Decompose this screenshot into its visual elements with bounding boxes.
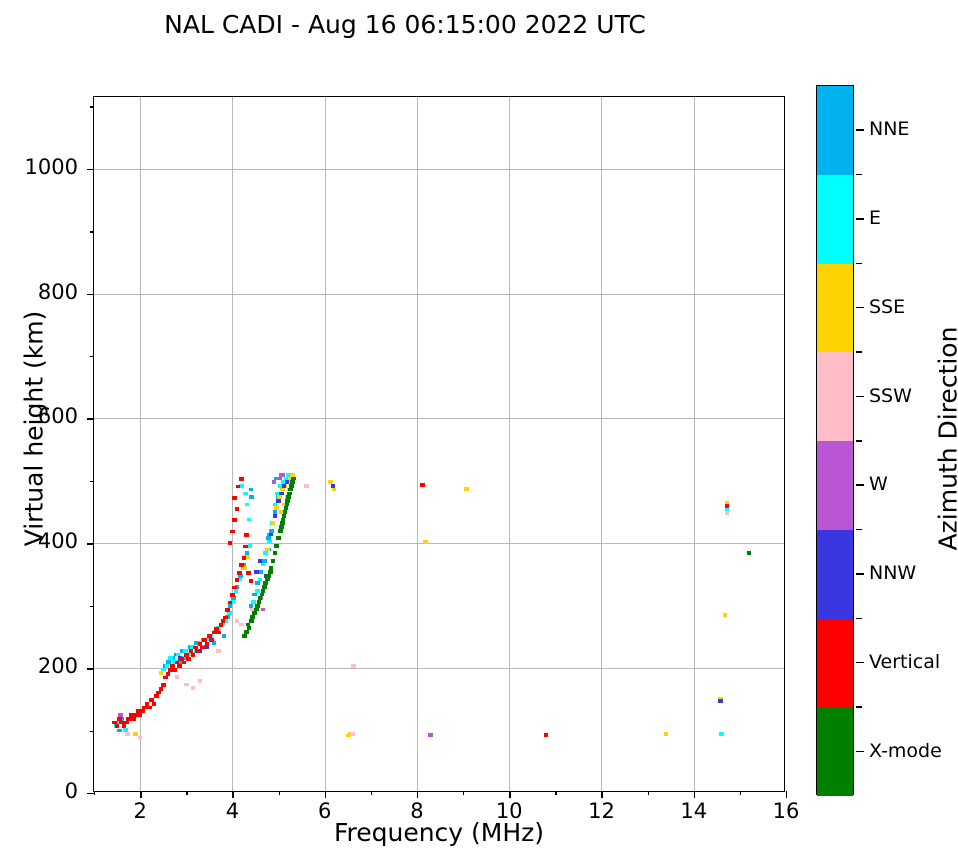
data-point-vertical: [147, 706, 152, 710]
x-axis-tick: [417, 791, 418, 798]
colorbar-boundary-tick: [856, 351, 862, 353]
data-point-x-mode: [254, 608, 259, 612]
y-axis-tick: [87, 294, 94, 295]
data-point-e: [239, 484, 244, 488]
colorbar-boundary-tick: [856, 263, 862, 265]
data-point-sse: [277, 495, 282, 499]
gridline-vertical: [417, 97, 418, 791]
data-point-nne: [242, 563, 247, 567]
colorbar-label-sse: SSE: [869, 296, 905, 318]
colorbar-label-vertical: Vertical: [869, 651, 940, 673]
data-point-x-mode: [244, 630, 249, 634]
x-axis-minor-tick: [740, 791, 741, 795]
data-point-e: [168, 656, 173, 660]
data-point-ssw: [216, 649, 221, 653]
colorbar-axis-label: Azimuth Direction: [934, 259, 958, 619]
data-point-nnw: [285, 480, 290, 484]
data-point-vertical: [117, 717, 122, 721]
data-point-x-mode: [747, 551, 752, 555]
data-point-sse: [664, 732, 669, 736]
y-axis-minor-tick: [90, 106, 94, 107]
data-point-e: [114, 724, 119, 728]
data-point-sse: [242, 566, 247, 570]
data-point-e: [201, 645, 206, 649]
data-point-x-mode: [274, 544, 279, 548]
data-point-vertical: [198, 642, 203, 646]
data-point-vertical: [159, 687, 164, 691]
data-point-e: [725, 507, 730, 511]
data-point-e: [278, 484, 283, 488]
data-point-sse: [279, 510, 284, 514]
data-point-vertical: [154, 694, 159, 698]
data-point-nne: [205, 645, 210, 649]
data-point-e: [187, 653, 192, 657]
gridline-horizontal: [94, 543, 784, 544]
gridline-horizontal: [94, 668, 784, 669]
data-point-nne: [273, 510, 278, 514]
x-axis-tick: [325, 791, 326, 798]
data-point-nne: [259, 570, 264, 574]
data-point-vertical: [244, 533, 249, 537]
data-point-x-mode: [281, 518, 286, 522]
data-point-x-mode: [250, 615, 255, 619]
colorbar-boundary-tick: [856, 174, 862, 176]
y-axis-minor-tick: [90, 731, 94, 732]
data-point-vertical: [126, 717, 131, 721]
data-point-sse: [725, 501, 730, 505]
data-point-sse: [290, 473, 295, 477]
data-point-vertical: [207, 634, 212, 638]
data-point-e: [247, 518, 252, 522]
data-point-e: [273, 503, 278, 507]
data-point-e: [176, 653, 181, 657]
data-point-ssw: [198, 679, 203, 683]
data-point-x-mode: [285, 503, 290, 507]
data-point-vertical: [249, 579, 254, 583]
data-point-e: [216, 626, 221, 630]
data-point-x-mode: [278, 529, 283, 533]
y-axis-tick-label: 0: [8, 779, 78, 803]
y-axis-tick-label: 1000: [8, 155, 78, 179]
data-point-nne: [262, 559, 267, 563]
data-point-nnw: [276, 499, 281, 503]
gridline-vertical: [232, 97, 233, 791]
gridline-horizontal: [94, 169, 784, 170]
colorbar-label-x-mode: X-mode: [869, 740, 942, 762]
data-point-nne: [201, 638, 206, 642]
data-point-e: [281, 480, 286, 484]
data-point-x-mode: [246, 623, 251, 627]
data-point-vertical: [133, 713, 138, 717]
gridline-vertical: [694, 97, 695, 791]
data-point-nne: [117, 729, 122, 733]
ionogram-figure: NAL CADI - Aug 16 06:15:00 2022 UTC 2468…: [0, 0, 958, 857]
data-point-ssw: [184, 683, 189, 687]
data-point-nnw: [264, 574, 269, 578]
data-point-x-mode: [242, 634, 247, 638]
data-point-w: [272, 480, 277, 484]
data-point-e: [248, 544, 253, 548]
colorbar-segment-vertical: [817, 619, 853, 708]
data-point-x-mode: [287, 492, 292, 496]
data-point-e: [165, 664, 170, 668]
data-point-e: [275, 492, 280, 496]
data-point-vertical: [145, 702, 150, 706]
data-point-vertical: [420, 483, 425, 487]
y-axis-minor-tick: [90, 481, 94, 482]
data-point-e: [198, 641, 203, 645]
data-point-x-mode: [279, 525, 284, 529]
data-point-x-mode: [282, 514, 287, 518]
data-point-e: [719, 732, 724, 736]
data-point-nne: [170, 656, 175, 660]
data-point-nne: [163, 664, 168, 668]
data-point-nne: [269, 529, 274, 533]
data-point-x-mode: [266, 574, 271, 578]
data-point-nne: [286, 477, 291, 481]
x-axis-tick: [786, 791, 787, 798]
data-point-e: [183, 649, 188, 653]
data-point-nnw: [279, 492, 284, 496]
data-point-vertical: [166, 672, 171, 676]
data-point-nne: [180, 649, 185, 653]
data-point-x-mode: [280, 521, 285, 525]
colorbar-tick: [856, 396, 864, 398]
data-point-nne: [166, 660, 171, 664]
data-point-nne: [174, 653, 179, 657]
data-point-nne: [249, 495, 254, 499]
data-point-vertical: [193, 646, 198, 650]
colorbar-boundary-tick: [856, 618, 862, 620]
data-point-w: [262, 585, 267, 589]
y-axis-tick: [87, 668, 94, 669]
data-point-vertical: [246, 571, 251, 575]
data-point-x-mode: [285, 499, 290, 503]
gridline-vertical: [140, 97, 141, 791]
y-axis-tick-label: 200: [8, 654, 78, 678]
plot-axes: 24681012141602004006008001000: [93, 96, 785, 792]
data-point-vertical: [209, 638, 214, 642]
data-point-x-mode: [262, 585, 267, 589]
gridline-vertical: [601, 97, 602, 791]
data-point-vertical: [142, 706, 147, 710]
colorbar-segment-e: [817, 175, 853, 264]
data-point-vertical: [205, 642, 210, 646]
colorbar-segment-nnw: [817, 530, 853, 619]
data-point-sse: [287, 488, 292, 492]
data-point-vertical: [182, 661, 187, 665]
data-point-nne: [208, 634, 213, 638]
data-point-e: [224, 619, 229, 623]
data-point-vertical: [175, 661, 180, 665]
data-point-nne: [191, 653, 196, 657]
data-point-x-mode: [290, 480, 295, 484]
colorbar-segment-ssw: [817, 352, 853, 441]
data-point-nne: [177, 660, 182, 664]
colorbar-label-e: E: [869, 207, 881, 229]
data-point-vertical: [221, 619, 226, 623]
gridline-vertical: [325, 97, 326, 791]
data-point-w: [277, 477, 282, 481]
data-point-x-mode: [263, 581, 268, 585]
data-point-ssw: [351, 664, 356, 668]
data-point-sse: [283, 484, 288, 488]
y-axis-tick: [87, 418, 94, 419]
data-point-nnw: [718, 699, 723, 703]
colorbar-tick: [856, 129, 864, 131]
data-point-e: [172, 660, 177, 664]
data-point-e: [261, 563, 266, 567]
colorbar-tick: [856, 307, 864, 309]
data-point-e: [179, 656, 184, 660]
data-point-vertical: [243, 545, 248, 549]
data-point-vertical: [544, 733, 549, 737]
data-point-e: [241, 566, 246, 570]
data-point-nne: [219, 623, 224, 627]
data-point-vertical: [163, 676, 168, 680]
data-point-sse: [271, 521, 276, 525]
x-axis-minor-tick: [555, 791, 556, 795]
data-point-nne: [194, 641, 199, 645]
data-point-nne: [274, 477, 279, 481]
y-axis-minor-tick: [90, 231, 94, 232]
data-point-w: [259, 596, 264, 600]
data-point-nnw: [282, 484, 287, 488]
data-point-vertical: [149, 698, 154, 702]
data-point-sse: [274, 506, 279, 510]
x-axis-tick: [509, 791, 510, 798]
data-point-vertical: [219, 623, 224, 627]
data-point-sse: [246, 555, 251, 559]
data-point-vertical: [223, 616, 228, 620]
data-point-nne: [280, 484, 285, 488]
data-point-e: [220, 623, 225, 627]
data-point-nne: [266, 536, 271, 540]
data-point-nnw: [254, 570, 259, 574]
data-point-nne: [266, 548, 271, 552]
data-point-vertical: [725, 504, 730, 508]
data-point-nne: [249, 488, 254, 492]
data-point-e: [284, 477, 289, 481]
data-point-e: [244, 555, 249, 559]
data-point-e: [255, 589, 260, 593]
colorbar-label-w: W: [869, 473, 888, 495]
data-point-nne: [279, 473, 284, 477]
data-point-x-mode: [249, 619, 254, 623]
data-point-vertical: [186, 657, 191, 661]
data-point-sse: [288, 477, 293, 481]
data-point-sse: [348, 732, 353, 736]
colorbar-label-nne: NNE: [869, 118, 909, 140]
data-point-x-mode: [289, 484, 294, 488]
data-point-e: [234, 589, 239, 593]
data-point-e: [227, 611, 232, 615]
data-point-vertical: [242, 556, 247, 560]
x-axis-minor-tick: [463, 791, 464, 795]
data-point-sse: [464, 487, 469, 491]
x-axis-minor-tick: [94, 791, 95, 795]
data-point-sse: [332, 488, 337, 492]
data-point-ssw: [175, 675, 180, 679]
y-axis-label: Virtual height (km): [20, 209, 49, 649]
data-point-vertical: [235, 578, 240, 582]
data-point-vertical: [200, 646, 205, 650]
data-point-vertical: [161, 683, 166, 687]
x-axis-tick: [140, 791, 141, 798]
data-point-w: [280, 473, 285, 477]
data-point-sse: [346, 734, 351, 738]
y-axis-minor-tick: [90, 606, 94, 607]
data-point-vertical: [119, 721, 124, 725]
y-axis-tick: [87, 793, 94, 794]
data-point-x-mode: [271, 559, 276, 563]
data-point-vertical: [152, 702, 157, 706]
data-point-x-mode: [276, 536, 281, 540]
data-point-vertical: [235, 507, 240, 511]
data-point-vertical: [129, 713, 134, 717]
data-point-x-mode: [284, 506, 289, 510]
colorbar-boundary-tick: [856, 706, 862, 708]
data-point-ssw: [725, 511, 730, 515]
data-point-vertical: [122, 724, 127, 728]
data-point-e: [194, 649, 199, 653]
data-point-vertical: [179, 657, 184, 661]
data-point-vertical: [202, 638, 207, 642]
colorbar-tick: [856, 573, 864, 575]
data-point-vertical: [189, 649, 194, 653]
colorbar-label-nnw: NNW: [869, 562, 916, 584]
data-point-vertical: [115, 724, 120, 728]
data-point-nne: [212, 641, 217, 645]
data-point-e: [118, 721, 123, 725]
y-axis-tick: [87, 543, 94, 544]
data-point-nnw: [204, 645, 209, 649]
data-point-nne: [276, 495, 281, 499]
data-point-ssw: [239, 623, 244, 627]
data-point-sse: [328, 480, 333, 484]
data-point-e: [209, 634, 214, 638]
data-point-vertical: [212, 631, 217, 635]
data-point-e: [213, 630, 218, 634]
colorbar-segment-sse: [817, 264, 853, 353]
data-point-ssw: [125, 732, 130, 736]
data-point-e: [251, 600, 256, 604]
colorbar-tick: [856, 218, 864, 220]
data-point-x-mode: [265, 578, 270, 582]
x-axis-minor-tick: [648, 791, 649, 795]
data-point-ssw: [191, 686, 196, 690]
colorbar-boundary-tick: [856, 440, 862, 442]
data-point-x-mode: [255, 604, 260, 608]
data-point-nne: [215, 630, 220, 634]
data-point-nnw: [331, 484, 336, 488]
data-point-x-mode: [269, 566, 274, 570]
data-point-sse: [285, 495, 290, 499]
data-point-vertical: [237, 571, 242, 575]
gridline-horizontal: [94, 418, 784, 419]
data-point-ssw: [304, 484, 309, 488]
plot-title: NAL CADI - Aug 16 06:15:00 2022 UTC: [0, 10, 810, 39]
data-point-nne: [245, 551, 250, 555]
colorbar-label-ssw: SSW: [869, 385, 912, 407]
x-axis-minor-tick: [371, 791, 372, 795]
data-point-vertical: [236, 485, 241, 489]
data-point-w: [118, 713, 123, 717]
x-axis-tick: [601, 791, 602, 798]
data-point-x-mode: [268, 570, 273, 574]
colorbar-segment-x-mode: [817, 707, 853, 796]
data-point-nnw: [198, 649, 203, 653]
colorbar-boundary-tick: [856, 529, 862, 531]
data-point-e: [263, 551, 268, 555]
data-point-nne: [255, 581, 260, 585]
data-point-e: [258, 578, 263, 582]
colorbar-segment-nne: [817, 86, 853, 175]
data-point-vertical: [195, 649, 200, 653]
data-point-vertical: [131, 717, 136, 721]
data-point-vertical: [156, 691, 161, 695]
data-point-sse: [285, 480, 290, 484]
colorbar-segment-w: [817, 441, 853, 530]
data-point-nnw: [269, 533, 274, 537]
data-point-nne: [235, 585, 240, 589]
data-point-nne: [267, 533, 272, 537]
data-point-x-mode: [291, 477, 296, 481]
gridline-horizontal: [94, 294, 784, 295]
data-point-x-mode: [273, 551, 278, 555]
data-point-nne: [115, 721, 120, 725]
data-point-vertical: [216, 631, 221, 635]
data-point-x-mode: [258, 596, 263, 600]
data-point-vertical: [239, 563, 244, 567]
data-point-sse: [120, 721, 125, 725]
data-point-sse: [280, 488, 285, 492]
colorbar-tick: [856, 662, 864, 664]
data-point-nnw: [273, 514, 278, 518]
x-axis-label: Frequency (MHz): [93, 818, 785, 847]
data-point-sse: [133, 732, 138, 736]
data-point-x-mode: [286, 495, 291, 499]
data-point-vertical: [239, 477, 244, 481]
data-point-sse: [723, 613, 728, 617]
data-point-nnw: [178, 656, 183, 660]
colorbar-tick: [856, 751, 864, 753]
data-point-vertical: [124, 721, 129, 725]
data-point-w: [428, 733, 433, 737]
data-point-e: [190, 645, 195, 649]
data-point-vertical: [112, 721, 117, 725]
x-axis-minor-tick: [186, 791, 187, 795]
data-point-w: [261, 608, 266, 612]
colorbar-tick: [856, 484, 864, 486]
x-axis-tick: [232, 791, 233, 798]
x-axis-minor-tick: [279, 791, 280, 795]
data-point-nne: [184, 656, 189, 660]
data-point-nne: [238, 574, 243, 578]
data-point-e: [245, 503, 250, 507]
data-point-sse: [159, 671, 164, 675]
data-point-ssw: [235, 619, 240, 623]
data-point-x-mode: [257, 600, 262, 604]
data-point-x-mode: [260, 593, 265, 597]
data-point-nne: [198, 649, 203, 653]
data-point-sse: [265, 548, 270, 552]
data-point-ssw: [209, 638, 214, 642]
data-point-e: [123, 728, 128, 732]
data-point-nne: [249, 604, 254, 608]
data-point-vertical: [214, 627, 219, 631]
data-point-nnw: [258, 559, 263, 563]
